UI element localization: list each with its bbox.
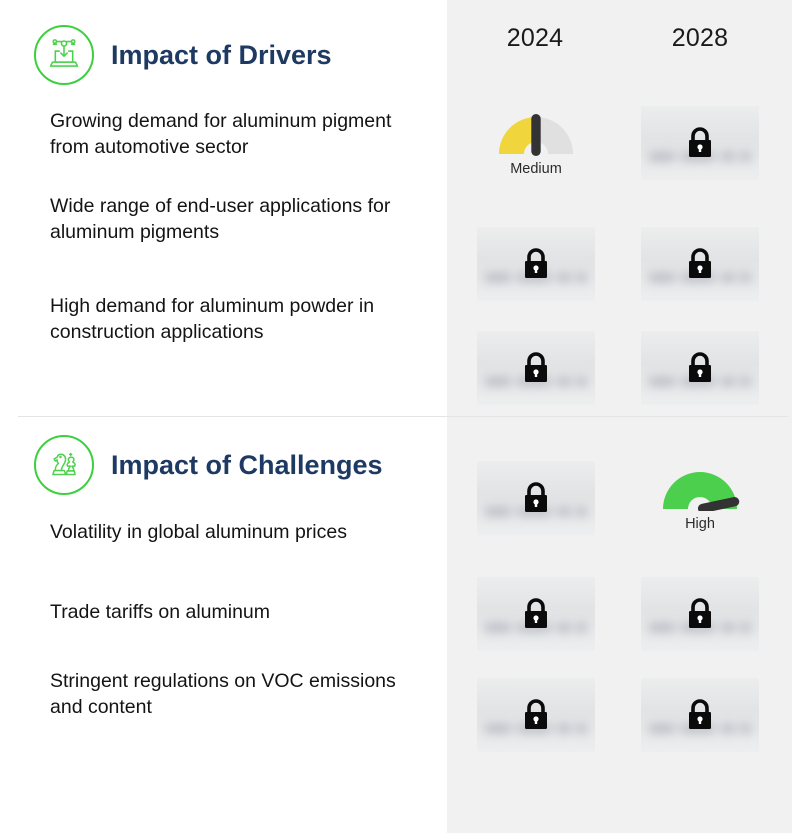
padlock-icon: [683, 697, 717, 733]
value-cell-locked[interactable]: [641, 227, 759, 301]
challenges-chess-pieces-icon: [34, 435, 94, 495]
gauge-arc: [659, 463, 741, 511]
panel-right-edge: [792, 0, 800, 833]
value-cell-locked[interactable]: [641, 678, 759, 752]
locked-tile[interactable]: [641, 106, 759, 180]
padlock-icon: [683, 246, 717, 282]
driver-item-text: Growing demand for aluminum pigment from…: [50, 109, 428, 160]
value-cell-locked[interactable]: [641, 106, 759, 180]
challenge-item-text: Trade tariffs on aluminum: [50, 600, 428, 626]
gauge-medium[interactable]: Medium: [477, 106, 595, 180]
locked-tile[interactable]: [641, 577, 759, 651]
value-cell-locked[interactable]: [477, 461, 595, 535]
section-header-challenges: Impact of Challenges: [34, 435, 383, 495]
gauge-label: High: [641, 516, 759, 532]
locked-tile[interactable]: [477, 331, 595, 405]
locked-tile[interactable]: [477, 227, 595, 301]
padlock-icon: [519, 350, 553, 386]
gauge-label: Medium: [477, 161, 595, 177]
value-cell-gauge[interactable]: High: [641, 461, 759, 535]
padlock-icon: [683, 350, 717, 386]
padlock-icon: [683, 596, 717, 632]
column-header-2024: 2024: [475, 24, 595, 53]
drivers-laptop-arrow-icon: [34, 25, 94, 85]
driver-item-text: Wide range of end-user applications for …: [50, 194, 428, 245]
value-cell-locked[interactable]: [477, 577, 595, 651]
value-cell-locked[interactable]: [641, 577, 759, 651]
value-cell-locked[interactable]: [477, 678, 595, 752]
infographic-root: 2024 2028 Impact of Drivers G: [0, 0, 800, 833]
challenge-item-text: Stringent regulations on VOC emissions a…: [50, 669, 428, 720]
padlock-icon: [519, 246, 553, 282]
locked-tile[interactable]: [477, 461, 595, 535]
gauge-arc: [495, 108, 577, 156]
gauge-high[interactable]: High: [641, 461, 759, 535]
column-header-2028: 2028: [640, 24, 760, 53]
section-title-drivers: Impact of Drivers: [111, 40, 332, 71]
challenge-item-text: Volatility in global aluminum prices: [50, 520, 428, 546]
locked-tile[interactable]: [477, 678, 595, 752]
section-title-challenges: Impact of Challenges: [111, 450, 383, 481]
section-header-drivers: Impact of Drivers: [34, 25, 332, 85]
value-cell-locked[interactable]: [641, 331, 759, 405]
locked-tile[interactable]: [477, 577, 595, 651]
section-divider: [18, 416, 788, 417]
driver-item-text: High demand for aluminum powder in const…: [50, 294, 428, 345]
padlock-icon: [683, 125, 717, 161]
value-cell-locked[interactable]: [477, 227, 595, 301]
value-cell-gauge[interactable]: Medium: [477, 106, 595, 180]
locked-tile[interactable]: [641, 227, 759, 301]
padlock-icon: [519, 596, 553, 632]
padlock-icon: [519, 697, 553, 733]
value-cell-locked[interactable]: [477, 331, 595, 405]
padlock-icon: [519, 480, 553, 516]
locked-tile[interactable]: [641, 678, 759, 752]
locked-tile[interactable]: [641, 331, 759, 405]
